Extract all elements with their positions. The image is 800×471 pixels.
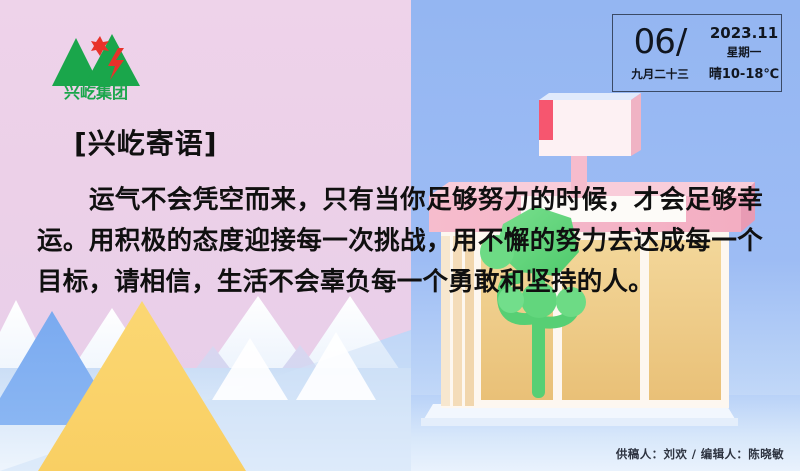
weather-text: 晴10-18℃ — [709, 63, 779, 82]
date-card: 06/ 九月二十三 2023.11 星期一 晴10-18℃ — [612, 14, 782, 92]
page-title: [兴屹寄语] — [74, 122, 218, 162]
credits-line: 供稿人：刘欢 / 编辑人：陈晓敏 — [616, 446, 784, 462]
logo-text: 兴屹集团 — [64, 83, 128, 100]
date-day-group: 06/ — [634, 25, 687, 59]
poster-canvas: 兴屹集团 06/ 九月二十三 2023.11 星期一 晴10-18℃ [兴屹寄语… — [0, 0, 800, 471]
weekday: 星期一 — [727, 44, 762, 60]
lunar-date: 九月二十三 — [631, 66, 689, 82]
date-card-left: 06/ 九月二十三 — [613, 15, 707, 91]
year-month: 2023.11 — [710, 24, 778, 42]
date-card-right: 2023.11 星期一 晴10-18℃ — [707, 15, 781, 91]
date-slash: / — [676, 25, 686, 59]
body-text: 运气不会凭空而来，只有当你足够努力的时候，才会足够幸运。用积极的态度迎接每一次挑… — [37, 180, 763, 303]
company-logo: 兴屹集团 — [48, 16, 144, 100]
date-day: 06 — [634, 25, 675, 59]
